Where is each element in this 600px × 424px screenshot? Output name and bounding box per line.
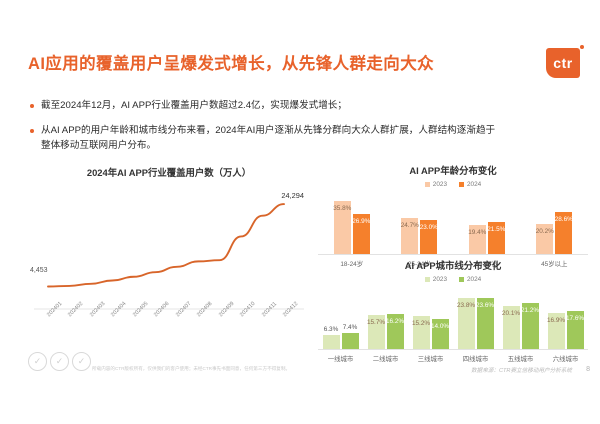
bar-value-label: 26.9% bbox=[352, 218, 370, 225]
age-chart-title: AI APP年龄分布变化 bbox=[318, 163, 588, 177]
city-chart-xlabels: 一线城市二线城市三线城市四线城市五线城市六线城市 bbox=[318, 354, 588, 363]
check-circle-icon: ✓ bbox=[50, 352, 69, 371]
check-circle-icon: ✓ bbox=[28, 352, 47, 371]
bar-value-label: 21.2% bbox=[521, 307, 539, 314]
bar-group: 16.9%17.6% bbox=[543, 287, 588, 349]
bar-value-label: 20.2% bbox=[536, 228, 554, 235]
legend-swatch-icon bbox=[425, 182, 430, 187]
bar-value-label: 16.2% bbox=[386, 318, 404, 325]
bullet-dot-icon bbox=[30, 104, 34, 108]
list-item: 从AI APP的用户年龄和城市线分布来看，2024年AI用户逐渐从先锋分群向大众… bbox=[30, 123, 500, 154]
ctr-logo: ctr bbox=[546, 48, 580, 78]
legend-label: 2024 bbox=[467, 181, 481, 188]
city-chart-title: AI APP城市线分布变化 bbox=[318, 258, 588, 272]
bar: 20.2% bbox=[536, 224, 553, 254]
bar: 21.2% bbox=[522, 303, 539, 349]
legend-label: 2023 bbox=[433, 181, 447, 188]
legend-item: 2023 bbox=[425, 276, 447, 283]
bar-category-label: 三线城市 bbox=[408, 354, 453, 363]
line-chart-panel: 2024年AI APP行业覆盖用户数（万人） 4,453 24,294 2024… bbox=[28, 165, 310, 355]
bar-value-label: 28.6% bbox=[555, 216, 573, 223]
bar: 16.2% bbox=[387, 314, 404, 349]
legend-swatch-icon bbox=[425, 277, 430, 282]
bar: 15.2% bbox=[413, 316, 430, 349]
check-circle-icon: ✓ bbox=[72, 352, 91, 371]
bar-group: 19.4%21.5% bbox=[461, 192, 513, 254]
city-bar-chart-panel: AI APP城市线分布变化 20232024 6.3%7.4%15.7%16.2… bbox=[318, 258, 588, 353]
bar-category-label: 五线城市 bbox=[498, 354, 543, 363]
bar: 35.8% bbox=[334, 201, 351, 254]
page-title: AI应用的覆盖用户呈爆发式增长，从先锋人群走向大众 bbox=[28, 50, 434, 74]
bar-value-label: 7.4% bbox=[343, 324, 358, 331]
bar-category-label: 四线城市 bbox=[453, 354, 498, 363]
bullet-list: 截至2024年12月，AI APP行业覆盖用户数超过2.4亿，实现爆发式增长； … bbox=[30, 98, 500, 163]
city-chart-bars: 6.3%7.4%15.7%16.2%15.2%14.0%23.8%23.6%20… bbox=[318, 287, 588, 350]
bar: 26.9% bbox=[353, 214, 370, 254]
bar-value-label: 23.6% bbox=[476, 302, 494, 309]
bar-value-label: 17.6% bbox=[566, 315, 584, 322]
bar-group: 35.8%26.9% bbox=[326, 192, 378, 254]
bar-group: 15.7%16.2% bbox=[363, 287, 408, 349]
bar-value-label: 15.7% bbox=[367, 319, 385, 326]
footer-disclaimer: 所载内容的CTR版权所有，仅供我们的客户使用；未经CTR事先书面同意，任何第三方… bbox=[92, 366, 392, 372]
legend-item: 2023 bbox=[425, 181, 447, 188]
age-chart-bars: 35.8%26.9%24.7%23.0%19.4%21.5%20.2%28.6% bbox=[318, 192, 588, 255]
city-chart-legend: 20232024 bbox=[318, 276, 588, 283]
list-item: 截至2024年12月，AI APP行业覆盖用户数超过2.4亿，实现爆发式增长； bbox=[30, 98, 500, 114]
bar-value-label: 16.9% bbox=[547, 317, 565, 324]
page-number: 8 bbox=[586, 366, 590, 373]
bar: 24.7% bbox=[401, 218, 418, 254]
bar: 21.5% bbox=[488, 222, 505, 254]
data-source-note: 数据来源：CTR赛立信移动用户分析系统 bbox=[471, 366, 572, 374]
bar-group: 6.3%7.4% bbox=[318, 287, 363, 349]
bar: 17.6% bbox=[567, 311, 584, 349]
footer-badges: ✓ ✓ ✓ bbox=[28, 352, 91, 371]
line-chart-xaxis: 2024012024022024032024042024052024062024… bbox=[28, 314, 310, 348]
bar: 6.3% bbox=[323, 335, 340, 349]
bar-group: 15.2%14.0% bbox=[408, 287, 453, 349]
bar-value-label: 6.3% bbox=[324, 326, 339, 333]
legend-item: 2024 bbox=[459, 181, 481, 188]
bullet-text: 从AI APP的用户年龄和城市线分布来看，2024年AI用户逐渐从先锋分群向大众… bbox=[41, 123, 500, 154]
bar: 15.7% bbox=[368, 315, 385, 349]
legend-label: 2023 bbox=[433, 276, 447, 283]
bar: 23.8% bbox=[458, 298, 475, 349]
bar-group: 20.2%28.6% bbox=[528, 192, 580, 254]
bar: 23.0% bbox=[420, 220, 437, 254]
legend-swatch-icon bbox=[459, 182, 464, 187]
bar-value-label: 23.8% bbox=[457, 302, 475, 309]
legend-item: 2024 bbox=[459, 276, 481, 283]
bar-category-label: 二线城市 bbox=[363, 354, 408, 363]
bar-group: 23.8%23.6% bbox=[453, 287, 498, 349]
logo-dot-icon bbox=[580, 45, 584, 49]
bar: 28.6% bbox=[555, 212, 572, 254]
line-chart-plot: 4,453 24,294 bbox=[28, 183, 310, 313]
line-chart-title: 2024年AI APP行业覆盖用户数（万人） bbox=[28, 165, 310, 179]
bar-value-label: 14.0% bbox=[431, 323, 449, 330]
bullet-text: 截至2024年12月，AI APP行业覆盖用户数超过2.4亿，实现爆发式增长； bbox=[41, 98, 347, 114]
bar: 19.4% bbox=[469, 225, 486, 254]
bar-category-label: 一线城市 bbox=[318, 354, 363, 363]
bar: 16.9% bbox=[548, 313, 565, 349]
bar: 7.4% bbox=[342, 333, 359, 349]
line-start-label: 4,453 bbox=[30, 267, 48, 274]
bar: 23.6% bbox=[477, 298, 494, 349]
legend-swatch-icon bbox=[459, 277, 464, 282]
bar-value-label: 24.7% bbox=[401, 222, 419, 229]
age-chart-legend: 20232024 bbox=[318, 181, 588, 188]
bar-value-label: 21.5% bbox=[487, 226, 505, 233]
bullet-dot-icon bbox=[30, 129, 34, 133]
bar-value-label: 15.2% bbox=[412, 320, 430, 327]
bar-value-label: 23.0% bbox=[420, 224, 438, 231]
bar-value-label: 20.1% bbox=[502, 310, 520, 317]
age-bar-chart-panel: AI APP年龄分布变化 20232024 35.8%26.9%24.7%23.… bbox=[318, 163, 588, 258]
bar-category-label: 六线城市 bbox=[543, 354, 588, 363]
bar: 20.1% bbox=[503, 306, 520, 349]
line-end-label: 24,294 bbox=[281, 191, 304, 200]
bar-group: 24.7%23.0% bbox=[393, 192, 445, 254]
line-chart-svg bbox=[28, 183, 310, 313]
legend-label: 2024 bbox=[467, 276, 481, 283]
slide: AI应用的覆盖用户呈爆发式增长，从先锋人群走向大众 ctr 截至2024年12月… bbox=[0, 0, 600, 424]
bar: 14.0% bbox=[432, 319, 449, 349]
bar-value-label: 19.4% bbox=[468, 229, 486, 236]
bar-value-label: 35.8% bbox=[333, 205, 351, 212]
bar-group: 20.1%21.2% bbox=[498, 287, 543, 349]
